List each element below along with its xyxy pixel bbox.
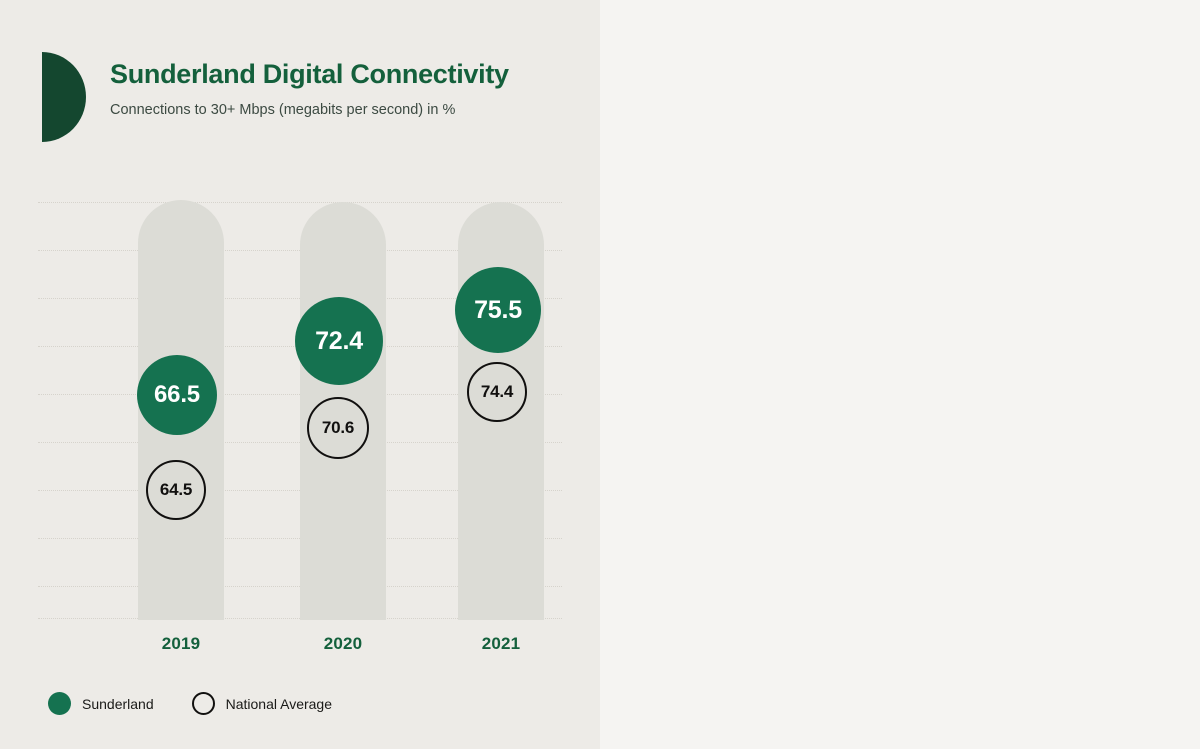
outline-circle-icon <box>192 692 215 715</box>
year-label-2020: 2020 <box>300 634 386 654</box>
half-circle-d-logo-icon <box>42 52 86 142</box>
page-title: Sunderland Digital Connectivity <box>110 60 509 90</box>
filled-circle-icon <box>48 692 71 715</box>
panel-productivity: Sunderland Productivity GVA (gross value… <box>600 0 1200 749</box>
panel-digital-connectivity: Sunderland Digital Connectivity Connecti… <box>0 0 600 749</box>
data-point-national: 74.4 <box>467 362 527 422</box>
chart-legend: SunderlandNational Average <box>48 692 332 715</box>
header-text-group: Sunderland Digital Connectivity Connecti… <box>110 52 509 120</box>
legend-item: National Average <box>192 692 332 715</box>
data-point-sunderland: 75.5 <box>455 267 541 353</box>
legend-label: Sunderland <box>82 696 154 712</box>
x-axis-year-labels: 201920202021 <box>38 634 562 660</box>
data-point-sunderland: 66.5 <box>137 355 217 435</box>
panel-header: Sunderland Digital Connectivity Connecti… <box>42 52 509 142</box>
legend-item: Sunderland <box>48 692 154 715</box>
infographic-root: Sunderland Digital Connectivity Connecti… <box>0 0 1200 749</box>
legend-label: National Average <box>226 696 332 712</box>
page-subtitle: Connections to 30+ Mbps (megabits per se… <box>110 101 509 120</box>
year-label-2021: 2021 <box>458 634 544 654</box>
chart-plot-area: 64.570.674.466.572.475.5 <box>38 190 562 620</box>
data-point-national: 70.6 <box>307 397 369 459</box>
data-point-sunderland: 72.4 <box>295 297 383 385</box>
data-point-national: 64.5 <box>146 460 206 520</box>
year-label-2019: 2019 <box>138 634 224 654</box>
